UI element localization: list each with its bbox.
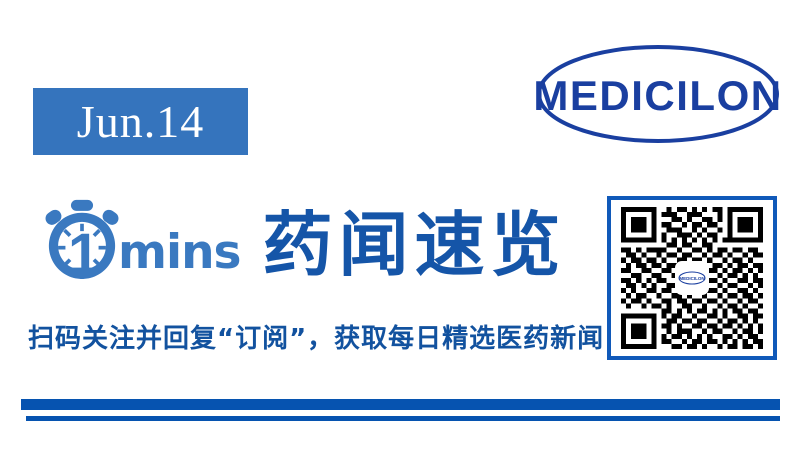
svg-text:MEDICILON: MEDICILON (535, 72, 781, 119)
headline-chinese-title: 药闻速览 (263, 210, 567, 280)
divider-thin (26, 416, 780, 421)
date-badge-label: Jun.14 (77, 99, 204, 145)
wechat-qr-code[interactable]: MEDICILON (607, 196, 777, 360)
svg-text:1: 1 (68, 222, 100, 286)
date-badge: Jun.14 (33, 88, 248, 155)
headline-row: 1 mins 药闻速览 (36, 188, 567, 300)
divider-thick (21, 399, 780, 410)
qr-code-matrix: MEDICILON (618, 207, 766, 349)
subtitle-text: 扫码关注并回复“订阅”，获取每日精选医药新闻 (28, 324, 604, 355)
newsletter-banner: Jun.14 MEDICILON (0, 0, 800, 468)
mins-label: mins (118, 229, 241, 276)
qr-center-medicilon-logo: MEDICILON (675, 261, 709, 295)
svg-text:MEDICILON: MEDICILON (679, 276, 704, 281)
medicilon-logo: MEDICILON (535, 42, 781, 146)
alarm-clock-icon: 1 (36, 198, 128, 290)
